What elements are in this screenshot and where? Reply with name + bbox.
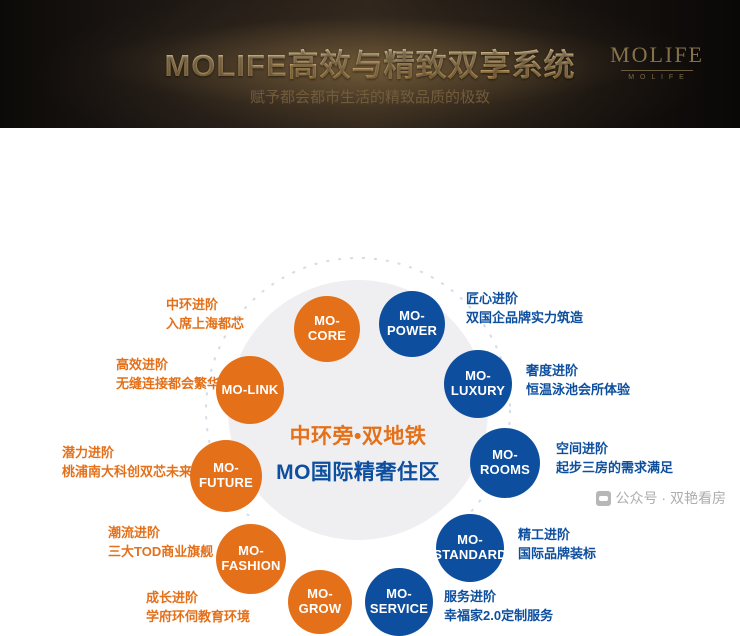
- label-mo-service-line2: 幸福家2.0定制服务: [444, 607, 553, 626]
- label-mo-link-line1: 高效进阶: [116, 356, 220, 375]
- node-mo-core[interactable]: MO-CORE: [294, 296, 360, 362]
- node-mo-rooms[interactable]: MO-ROOMS: [470, 428, 540, 498]
- label-mo-link: 高效进阶 无缝连接都会繁华: [116, 356, 220, 394]
- label-mo-power-line1: 匠心进阶: [466, 290, 583, 309]
- brand-logo: MOLIFE M O L I F E: [610, 44, 704, 81]
- label-mo-fashion-line2: 三大TOD商业旗舰: [108, 543, 213, 562]
- node-mo-future[interactable]: MO-FUTURE: [190, 440, 262, 512]
- label-mo-core: 中环进阶 入席上海都芯: [166, 296, 244, 334]
- label-mo-power-line2: 双国企品牌实力筑造: [466, 309, 583, 328]
- label-mo-standard: 精工进阶 国际品牌装标: [518, 526, 596, 564]
- label-mo-link-line2: 无缝连接都会繁华: [116, 375, 220, 394]
- label-mo-luxury: 奢度进阶 恒温泳池会所体验: [526, 362, 630, 400]
- node-mo-link[interactable]: MO-LINK: [216, 356, 284, 424]
- label-mo-future: 潜力进阶 桃浦南大科创双芯未来: [62, 444, 192, 482]
- node-mo-grow[interactable]: MO-GROW: [288, 570, 352, 634]
- label-mo-future-line2: 桃浦南大科创双芯未来: [62, 463, 192, 482]
- node-mo-grow-label: MO-GROW: [288, 587, 352, 616]
- node-mo-service-label: MO-SERVICE: [365, 587, 433, 616]
- label-mo-rooms-line2: 起步三房的需求满足: [556, 459, 673, 478]
- node-mo-core-label: MO-CORE: [294, 314, 360, 343]
- node-mo-fashion-label: MO-FASHION: [216, 544, 286, 573]
- label-mo-rooms: 空间进阶 起步三房的需求满足: [556, 440, 673, 478]
- node-mo-fashion[interactable]: MO-FASHION: [216, 524, 286, 594]
- node-mo-power[interactable]: MO-POWER: [379, 291, 445, 357]
- label-mo-rooms-line1: 空间进阶: [556, 440, 673, 459]
- label-mo-fashion: 潮流进阶 三大TOD商业旗舰: [108, 524, 213, 562]
- node-mo-power-label: MO-POWER: [379, 309, 445, 338]
- label-mo-standard-line2: 国际品牌装标: [518, 545, 596, 564]
- label-mo-grow-line1: 成长进阶: [146, 589, 250, 608]
- label-mo-future-line1: 潜力进阶: [62, 444, 192, 463]
- node-mo-standard-label: MO-STANDARD: [431, 533, 509, 562]
- label-mo-luxury-line1: 奢度进阶: [526, 362, 630, 381]
- watermark-text: 公众号 · 双艳看房: [616, 488, 726, 508]
- label-mo-core-line1: 中环进阶: [166, 296, 244, 315]
- node-mo-link-label: MO-LINK: [220, 383, 281, 398]
- page-subtitle: 赋予都会都市生活的精致品质的极致: [0, 86, 740, 107]
- label-mo-power: 匠心进阶 双国企品牌实力筑造: [466, 290, 583, 328]
- node-mo-luxury-label: MO-LUXURY: [444, 369, 512, 398]
- label-mo-grow-line2: 学府环伺教育环境: [146, 608, 250, 627]
- label-mo-standard-line1: 精工进阶: [518, 526, 596, 545]
- label-mo-core-line2: 入席上海都芯: [166, 315, 244, 334]
- label-mo-service: 服务进阶 幸福家2.0定制服务: [444, 588, 553, 626]
- label-mo-grow: 成长进阶 学府环伺教育环境: [146, 589, 250, 627]
- node-mo-service[interactable]: MO-SERVICE: [365, 568, 433, 636]
- node-mo-luxury[interactable]: MO-LUXURY: [444, 350, 512, 418]
- label-mo-service-line1: 服务进阶: [444, 588, 553, 607]
- page-header: MOLIFE高效与精致双享系统 赋予都会都市生活的精致品质的极致 MOLIFE …: [0, 0, 740, 128]
- label-mo-luxury-line2: 恒温泳池会所体验: [526, 381, 630, 400]
- node-mo-standard[interactable]: MO-STANDARD: [436, 514, 504, 582]
- brand-logo-text: MOLIFE: [610, 44, 704, 66]
- system-diagram: 中环旁•双地铁 MO国际精奢住区 MO-CORE MO-POWER MO-LUX…: [0, 128, 740, 516]
- node-mo-future-label: MO-FUTURE: [190, 461, 262, 490]
- watermark: 公众号 · 双艳看房: [596, 488, 726, 508]
- brand-logo-divider: [621, 70, 693, 71]
- wechat-icon: [596, 491, 611, 506]
- brand-logo-subtext: M O L I F E: [610, 74, 704, 81]
- node-mo-rooms-label: MO-ROOMS: [470, 448, 540, 477]
- label-mo-fashion-line1: 潮流进阶: [108, 524, 213, 543]
